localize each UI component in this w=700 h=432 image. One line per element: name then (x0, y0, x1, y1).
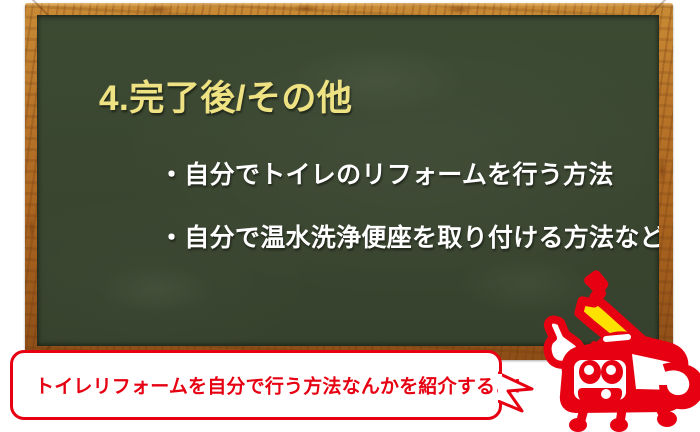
list-item: ・自分で温水洗浄便座を取り付ける方法など (159, 218, 659, 254)
wood-knot-icon (293, 4, 319, 13)
list-item: ・自分でトイレのリフォームを行う方法 (159, 155, 659, 191)
page-title: 4.完了後/その他 (99, 70, 352, 121)
mascot-truck-character (536, 268, 700, 432)
speech-bubble: トイレリフォームを自分で行う方法なんかを紹介するよ! (10, 350, 502, 420)
frame-highlight (25, 3, 673, 7)
wheels-icon (569, 404, 677, 432)
truck-body (564, 335, 693, 432)
wood-knot-icon (27, 213, 36, 243)
slide-canvas: 4.完了後/その他 ・自分でトイレのリフォームを行う方法 ・自分で温水洗浄便座を… (0, 0, 700, 432)
wood-knot-icon (143, 5, 173, 14)
wood-knot-icon (445, 5, 473, 14)
speech-bubble-text: トイレリフォームを自分で行う方法なんかを紹介するよ! (35, 372, 521, 399)
speech-bubble-tail (498, 371, 538, 413)
bullet-list: ・自分でトイレのリフォームを行う方法 ・自分で温水洗浄便座を取り付ける方法など (159, 155, 659, 281)
